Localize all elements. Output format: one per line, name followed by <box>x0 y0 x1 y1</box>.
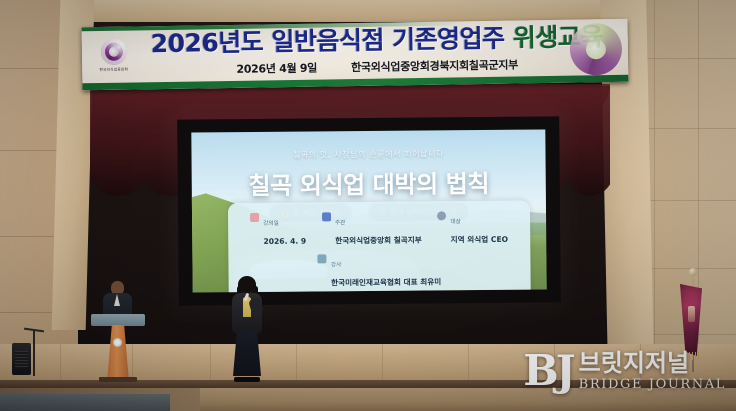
watermark-monogram: BJ <box>523 353 572 389</box>
banner-organizer: 한국외식업중앙회경북지회칠곡군지부 <box>351 56 518 75</box>
front-rail <box>0 394 170 411</box>
slide-info-value: 2026. 4. 9 <box>263 237 306 246</box>
presenter-skirt <box>233 331 261 376</box>
banner-title: 2026년도 일반음식점 기존영업주 위생교육 <box>142 21 612 60</box>
slide-info-label: 대상 <box>450 219 460 225</box>
slide-info-value: 한국미래인재교육협회 대표 최유미 <box>331 277 441 287</box>
slide-info-row: 강사 한국미래인재교육협회 대표 최유미 <box>238 250 520 290</box>
slide-info-value: 지역 외식업 CEO <box>451 235 509 245</box>
slide-info-row: 강의일 2026. 4. 9 주관 한국외식업중앙회 칠곡지부 <box>238 208 520 248</box>
podium <box>95 314 141 382</box>
presenter-shoes <box>234 377 260 382</box>
floor-speaker <box>12 343 31 375</box>
swirl-large-icon <box>570 23 623 76</box>
photo-scene: 한국외식업중앙회 2026년도 일반음식점 기존영업주 위생교육 2026년 4… <box>0 0 736 411</box>
banner-title-main: 2026년도 일반음식점 기존영업주 <box>150 24 513 59</box>
building-icon <box>322 212 331 221</box>
speaker-stand <box>33 330 35 376</box>
slide-info-label: 주관 <box>335 220 345 226</box>
header-beam <box>74 0 634 22</box>
slide-info-label: 강의일 <box>263 221 279 227</box>
swirl-icon <box>101 39 127 65</box>
slide-info-item: 주관 한국외식업중앙회 칠곡지부 <box>322 209 422 248</box>
slide-title: 칠곡 외식업 대박의 법칙 <box>192 163 546 201</box>
lecturer-icon <box>318 254 327 263</box>
podium-body <box>107 325 129 382</box>
event-banner: 한국외식업중앙회 2026년도 일반음식점 기존영업주 위생교육 2026년 4… <box>82 19 629 91</box>
slide-info-value: 한국외식업중앙회 칠곡지부 <box>335 236 422 246</box>
podium-top <box>91 314 145 326</box>
slide-info-card: 강의일 2026. 4. 9 주관 한국외식업중앙회 칠곡지부 <box>228 201 531 293</box>
presentation-slide: 칠곡의 맛, 사장님의 손끝에서 피어납니다 칠곡 외식업 대박의 법칙 💰 돈… <box>191 129 546 292</box>
flag-emblem <box>688 306 695 322</box>
association-logo-caption: 한국외식업중앙회 <box>100 67 129 73</box>
podium-base <box>99 377 137 382</box>
banner-date: 2026년 4월 9일 <box>236 60 317 77</box>
podium-emblem <box>113 338 122 347</box>
slide-info-item: 강사 한국미래인재교육협회 대표 최유미 <box>318 250 441 289</box>
calendar-icon <box>250 213 259 222</box>
slide-info-label: 강사 <box>331 262 341 268</box>
watermark: BJ 브릿지저널 BRIDGE JOURNAL <box>523 351 726 391</box>
presenter-hair <box>238 276 256 293</box>
slide-info-item: 강의일 2026. 4. 9 <box>250 210 306 248</box>
association-logo: 한국외식업중앙회 <box>91 33 138 78</box>
presenter <box>228 276 266 382</box>
flag-finial <box>689 268 697 276</box>
watermark-english: BRIDGE JOURNAL <box>579 378 726 391</box>
slide-info-item: 대상 지역 외식업 CEO <box>437 208 508 247</box>
people-icon <box>437 211 446 220</box>
watermark-korean: 브릿지저널 <box>579 351 726 375</box>
